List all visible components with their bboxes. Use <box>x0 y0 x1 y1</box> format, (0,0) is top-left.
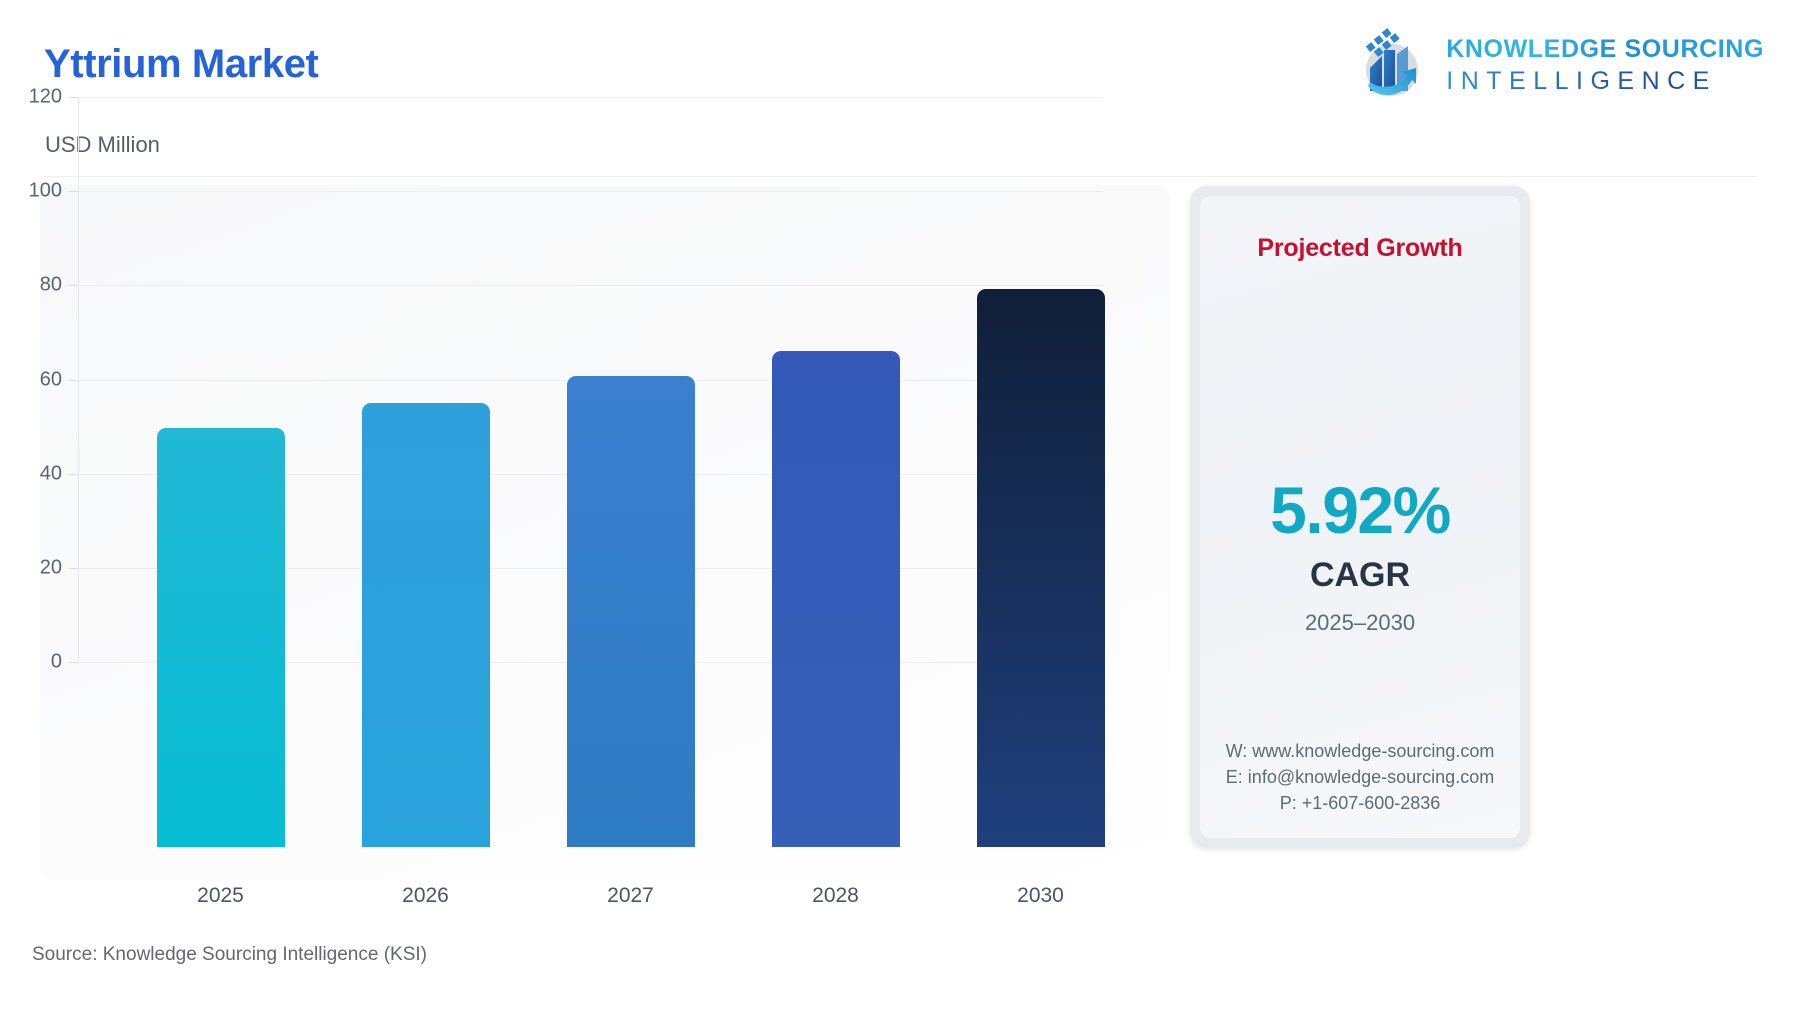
cagr-period: 2025–2030 <box>1200 610 1520 636</box>
brand-logo-text: KNOWLEDGE SOURCING INTELLIGENCE <box>1446 37 1764 94</box>
brand-name-secondary: INTELLIGENCE <box>1446 69 1764 94</box>
y-axis-tick-label: 60 <box>40 368 62 391</box>
brand-logo: KNOWLEDGE SOURCING INTELLIGENCE <box>1358 22 1764 108</box>
y-axis-tick-label: 80 <box>40 274 62 297</box>
x-axis-tick-label: 2030 <box>1017 884 1064 908</box>
bar-2030[interactable] <box>977 289 1105 847</box>
chart-page: Yttrium Market USD Million <box>0 0 1800 1012</box>
bar-slot <box>567 282 695 847</box>
projected-growth-heading: Projected Growth <box>1200 234 1520 263</box>
bar-slot <box>977 282 1105 847</box>
projected-growth-card: Projected Growth 5.92% CAGR 2025–2030 W:… <box>1190 186 1530 848</box>
source-note: Source: Knowledge Sourcing Intelligence … <box>32 944 427 966</box>
bar-2027[interactable] <box>567 376 695 847</box>
x-axis-tick-label: 2025 <box>197 884 244 908</box>
y-axis-tick <box>69 191 78 192</box>
projected-growth-card-inner: Projected Growth 5.92% CAGR 2025–2030 W:… <box>1200 196 1520 838</box>
y-axis-tick-labels: 020406080100120 <box>0 97 62 662</box>
bar-series <box>118 282 1143 847</box>
bar-2026[interactable] <box>362 403 490 847</box>
y-axis-tick-label: 100 <box>29 180 62 203</box>
y-axis-tick-label: 40 <box>40 462 62 485</box>
y-axis-tick-label: 20 <box>40 556 62 579</box>
y-axis-tick <box>69 97 78 98</box>
contact-email: E: info@knowledge-sourcing.com <box>1200 764 1520 790</box>
grid-line <box>78 191 1103 192</box>
contact-website: W: www.knowledge-sourcing.com <box>1200 738 1520 764</box>
contact-block: W: www.knowledge-sourcing.com E: info@kn… <box>1200 738 1520 816</box>
contact-phone: P: +1-607-600-2836 <box>1200 790 1520 816</box>
y-axis-tick <box>69 568 78 569</box>
y-axis-tick <box>69 285 78 286</box>
x-axis-tick-label: 2026 <box>402 884 449 908</box>
bar-slot <box>157 282 285 847</box>
bar-slot <box>362 282 490 847</box>
x-axis-tick-label: 2028 <box>812 884 859 908</box>
x-axis-tick-label: 2027 <box>607 884 654 908</box>
cagr-label: CAGR <box>1200 556 1520 595</box>
y-axis-tick <box>69 380 78 381</box>
cagr-value: 5.92% <box>1200 472 1520 548</box>
bar-chart-arrow-globe-icon <box>1358 28 1432 102</box>
bar-2025[interactable] <box>157 428 285 847</box>
y-axis-tick-label: 0 <box>51 651 62 674</box>
y-axis-tick-label: 120 <box>29 86 62 109</box>
page-title: Yttrium Market <box>44 42 318 87</box>
y-axis-tick <box>69 474 78 475</box>
brand-name-primary: KNOWLEDGE SOURCING <box>1446 37 1764 62</box>
grid-line <box>78 97 1103 98</box>
bar-2028[interactable] <box>772 351 900 847</box>
y-axis-tick <box>69 662 78 663</box>
bar-slot <box>772 282 900 847</box>
